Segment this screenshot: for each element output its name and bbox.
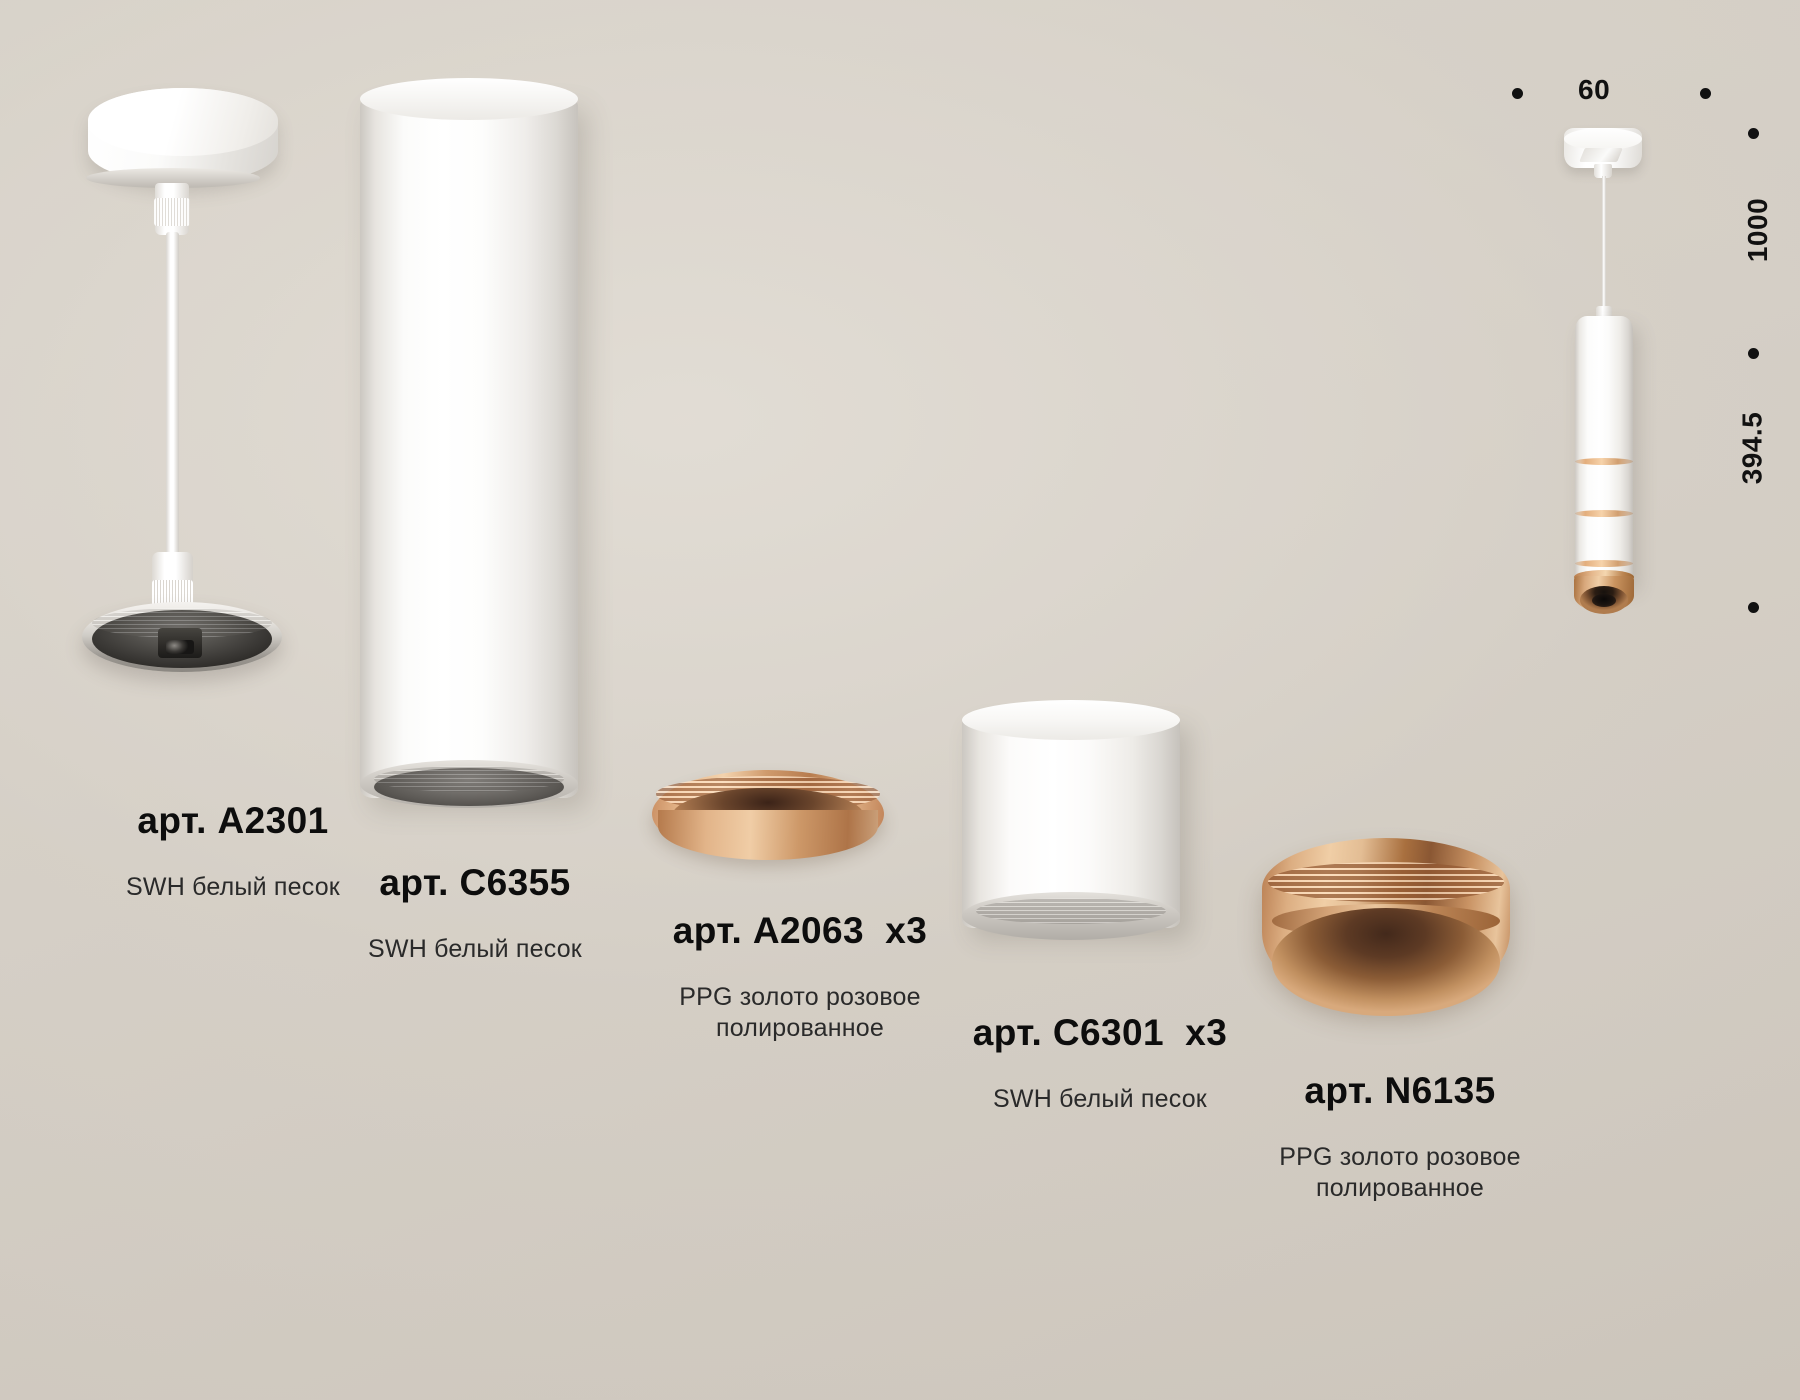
cap-top-face [962, 700, 1180, 740]
dim-dot-diameter-left [1512, 88, 1523, 99]
pendant-gold-line-2 [1575, 510, 1633, 517]
dim-label-suspension-length: 1000 [1742, 198, 1774, 262]
cup-groove-band [1268, 862, 1504, 902]
cup-inner-bore [1272, 908, 1500, 1016]
pendant-reflector [1580, 586, 1628, 614]
pendant-gold-line-1 [1575, 458, 1633, 465]
product-assembly-diagram: арт. A2301 SWH белый песок арт. C6355 SW… [0, 0, 1800, 1400]
dim-dot-suspension-top [1748, 128, 1759, 139]
part-image-a2301 [78, 80, 388, 670]
label-n6135-art: арт. N6135 [1180, 1068, 1620, 1115]
dim-dot-suspension-bottom [1748, 348, 1759, 359]
pendant-cable [1602, 176, 1606, 314]
cylinder-bottom-grooves [374, 766, 564, 792]
label-n6135: арт. N6135 PPG золото розовое полированн… [1180, 1048, 1620, 1225]
part-image-n6135 [1262, 838, 1532, 1038]
ring-front-face [658, 810, 878, 860]
pendant-tube [1575, 316, 1633, 582]
pendant-canopy-slot [1579, 148, 1623, 162]
label-n6135-desc: PPG золото розовое полированное [1180, 1142, 1620, 1205]
dim-dot-diameter-right [1700, 88, 1711, 99]
stem-knurl-top [154, 198, 190, 226]
base-connector [158, 628, 202, 658]
cylinder-top-cap [360, 78, 578, 120]
dim-dot-fixture-bottom [1748, 602, 1759, 613]
pendant-gold-line-3 [1575, 560, 1633, 567]
dim-label-fixture-length: 394.5 [1736, 412, 1768, 485]
assembled-pendant-preview [1538, 128, 1688, 638]
part-image-c6301 [962, 700, 1202, 970]
label-a2063-art: арт. A2063 x3 [580, 908, 1020, 955]
dim-label-diameter: 60 [1578, 74, 1610, 106]
cylinder-body [360, 96, 578, 798]
cap-bottom-grooves [976, 898, 1166, 924]
part-image-c6355 [360, 78, 590, 818]
suspension-rod [166, 232, 179, 604]
part-image-a2063 [652, 770, 892, 880]
